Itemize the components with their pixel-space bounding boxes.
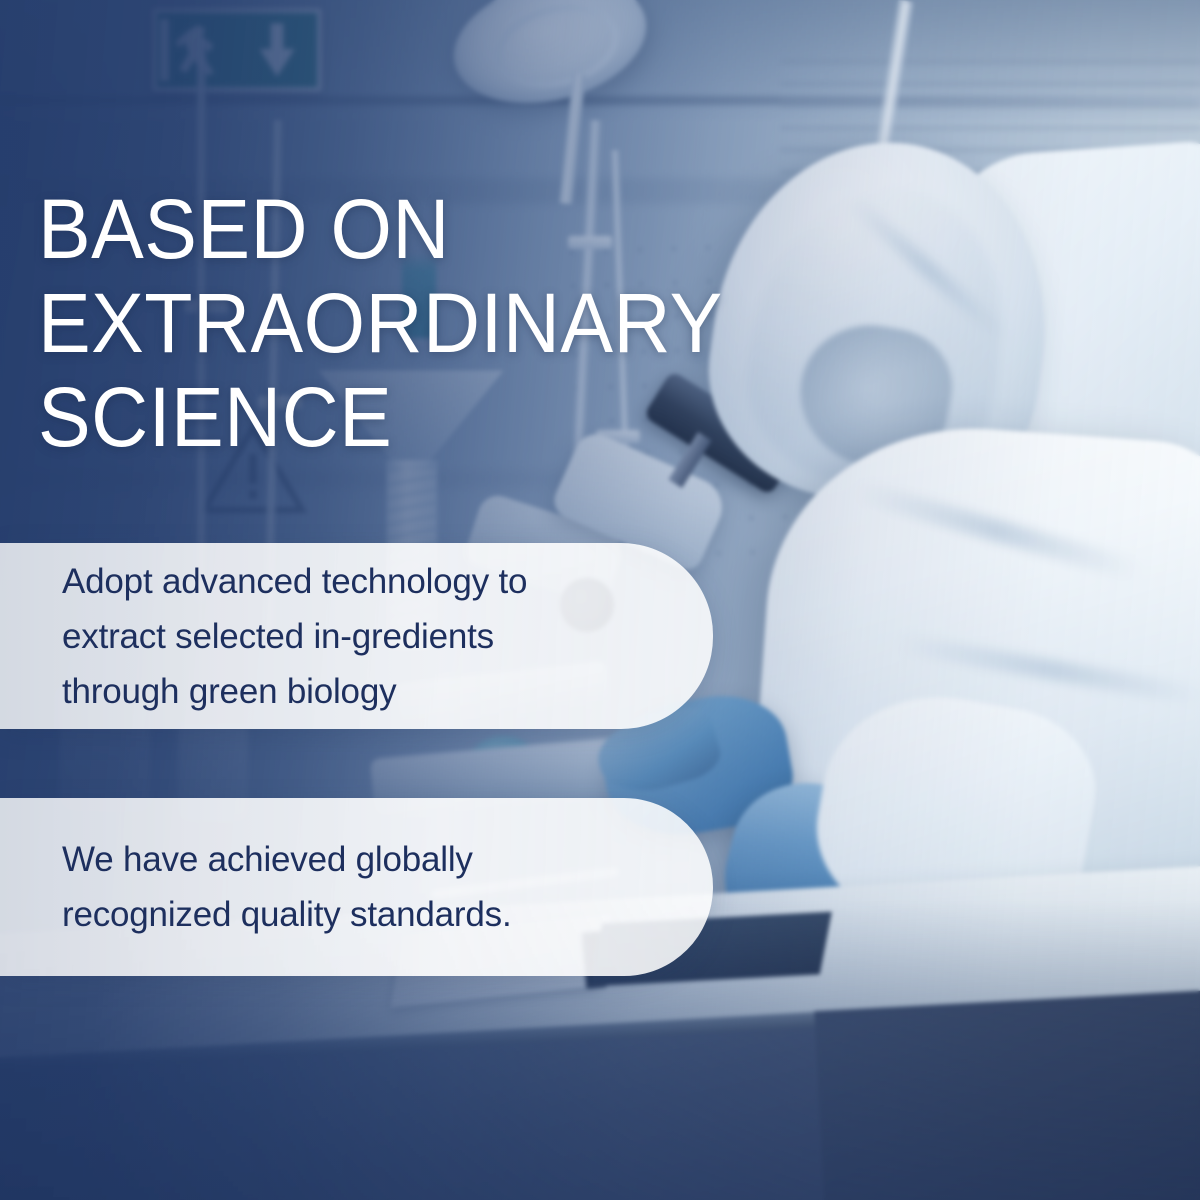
content-layer: BASED ON EXTRAORDINARY SCIENCE Adopt adv…	[0, 0, 1200, 1200]
promo-banner: 75	[0, 0, 1200, 1200]
feature-card-quality: We have achieved globally recognized qua…	[0, 798, 713, 976]
feature-card-technology: Adopt advanced technology to extract sel…	[0, 543, 713, 729]
page-title: BASED ON EXTRAORDINARY SCIENCE	[38, 182, 752, 464]
feature-card-text: We have achieved globally recognized qua…	[62, 832, 511, 942]
feature-card-text: Adopt advanced technology to extract sel…	[62, 554, 527, 719]
